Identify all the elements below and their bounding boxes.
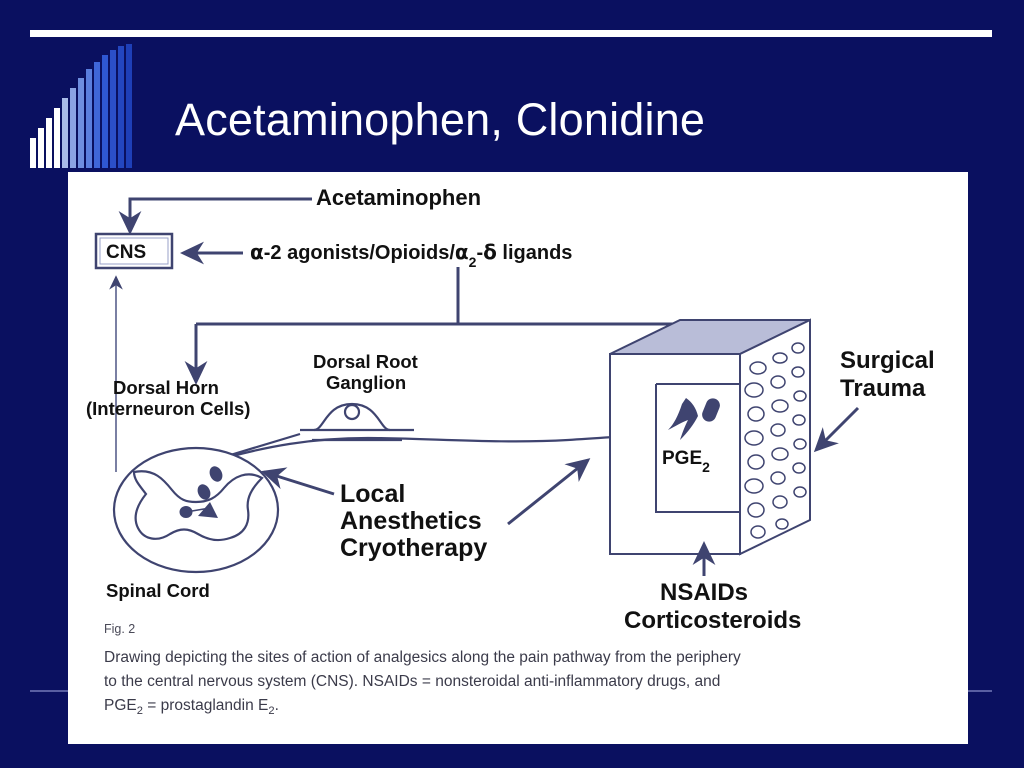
label-local-line3: Cryotherapy <box>340 534 487 562</box>
pain-pathway-diagram: Acetaminophen CNS α-2 agonists/Opioids/α… <box>68 172 968 632</box>
tissue-block: PGE2 <box>610 320 810 554</box>
caption-line-1: Drawing depicting the sites of action of… <box>104 646 944 670</box>
svg-text:CNS: CNS <box>106 242 146 263</box>
figure-caption: Fig. 2 Drawing depicting the sites of ac… <box>104 620 944 721</box>
caption-line-3: PGE2 = prostaglandin E2. <box>104 694 944 720</box>
caption-pge-mid: = prostaglandin E <box>143 697 268 714</box>
label-surgical-line1: Surgical <box>840 347 935 374</box>
caption-pge-pre: PGE <box>104 697 137 714</box>
figure-panel: Acetaminophen CNS α-2 agonists/Opioids/α… <box>68 172 968 744</box>
page-title: Acetaminophen, Clonidine <box>175 96 995 143</box>
label-spinal-cord: Spinal Cord <box>106 580 210 601</box>
caption-fig-number: Fig. 2 <box>104 620 944 639</box>
dorsal-root-ganglion-shape <box>300 404 414 440</box>
top-divider <box>30 30 992 37</box>
label-acetaminophen: Acetaminophen <box>316 185 481 210</box>
edge-acetaminophen-to-cns <box>130 199 312 232</box>
edge-local-to-periphery <box>508 460 588 524</box>
label-surgical-line2: Trauma <box>840 375 926 402</box>
node-cns: CNS <box>96 234 172 268</box>
edge-trauma-to-tissue <box>816 408 858 450</box>
slide: Acetaminophen, Clonidine Acetaminophen C… <box>0 0 1024 768</box>
label-alpha2-agonists: α-2 agonists/Opioids/α2-δ ligands <box>250 240 572 270</box>
label-dorsal-root-line2: Ganglion <box>326 372 406 393</box>
label-local-line2: Anesthetics <box>340 507 482 535</box>
label-dorsal-horn-line1: Dorsal Horn <box>113 377 219 398</box>
spinal-cord-shape <box>114 448 278 572</box>
decorative-bar-cluster <box>30 44 160 168</box>
label-dorsal-root-line1: Dorsal Root <box>313 351 418 372</box>
label-nsaids-line1: NSAIDs <box>660 579 748 606</box>
caption-line-2: to the central nervous system (CNS). NSA… <box>104 670 944 694</box>
label-local-line1: Local <box>340 480 405 508</box>
label-dorsal-horn-line2: (Interneuron Cells) <box>86 398 250 419</box>
caption-pge-end: . <box>275 697 279 714</box>
